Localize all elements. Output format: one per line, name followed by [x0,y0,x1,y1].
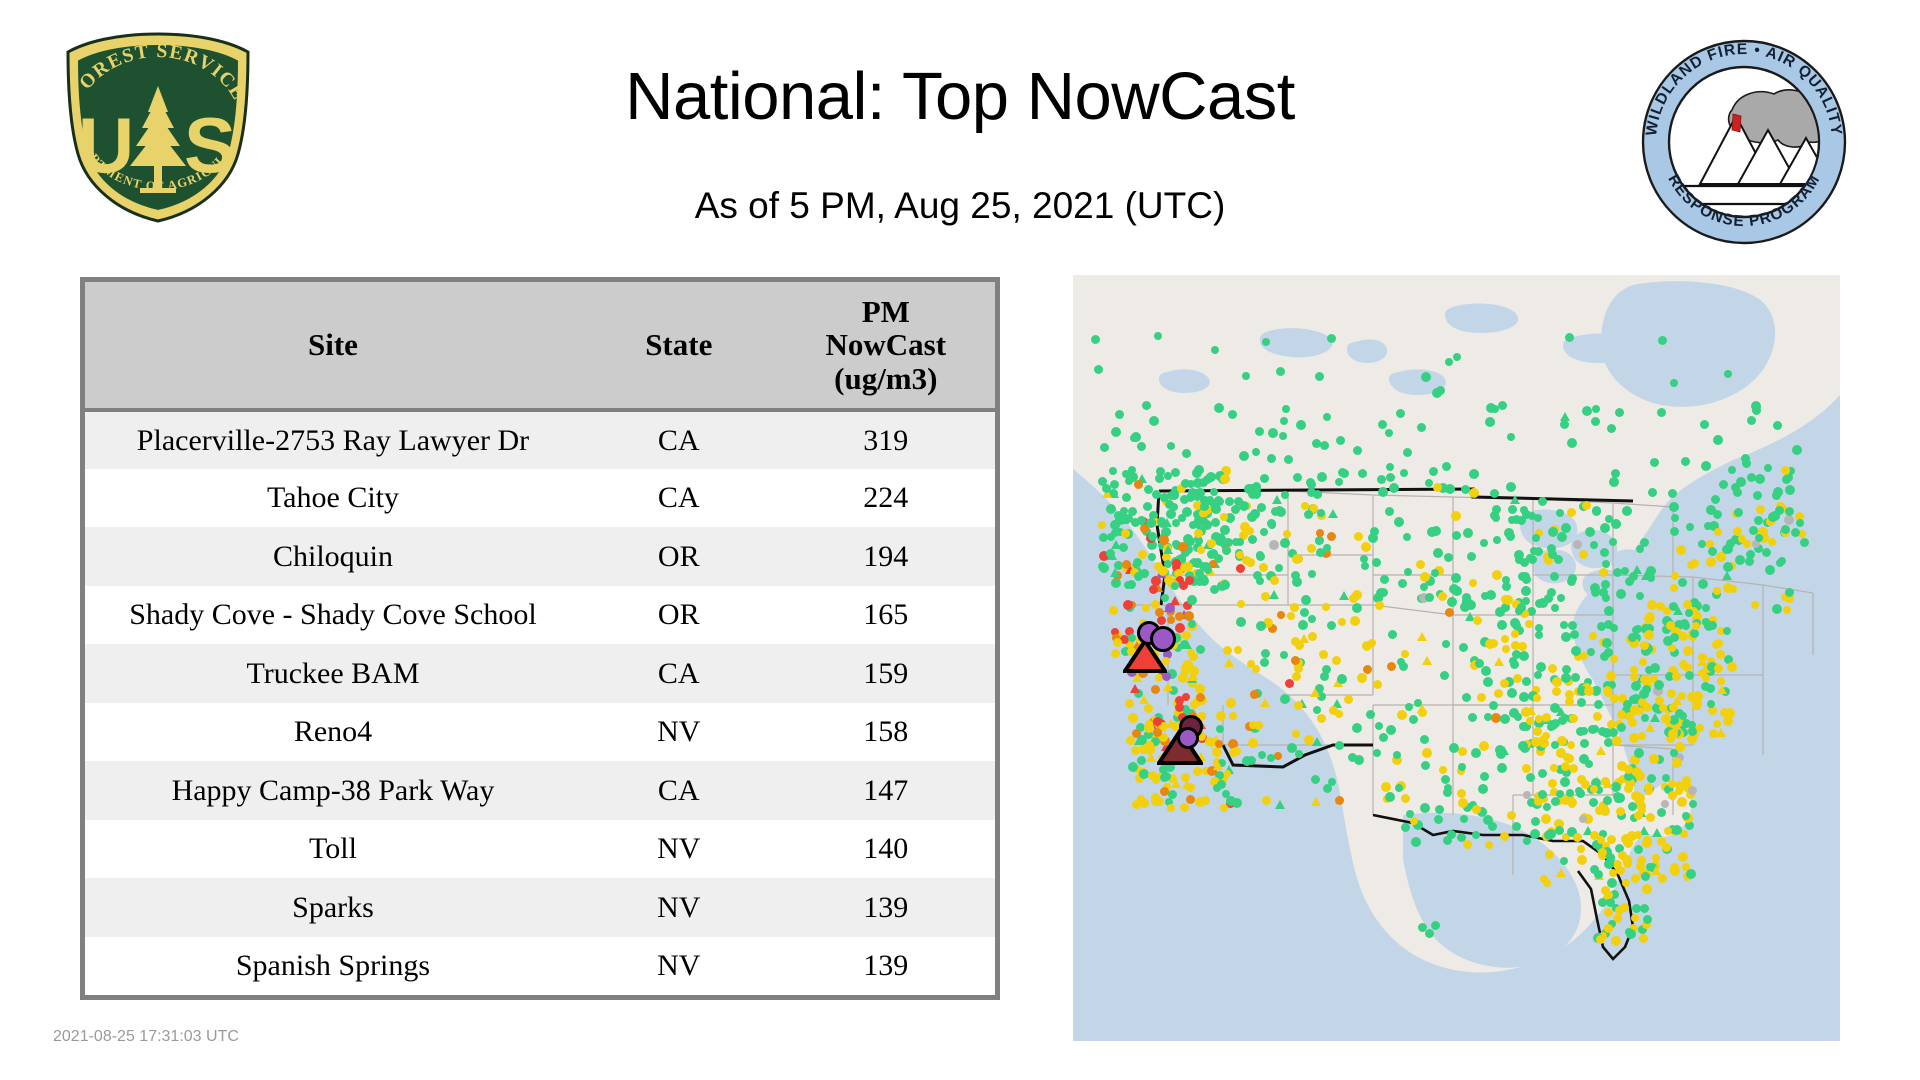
aqi-station-dot[interactable] [1260,658,1269,667]
aqi-station-dot[interactable] [1385,429,1393,437]
aqi-station-dot[interactable] [1269,540,1279,550]
aqi-station-dot[interactable] [1567,577,1576,586]
aqi-station-dot[interactable] [1323,413,1331,421]
aqi-station-dot[interactable] [1282,405,1290,413]
aqi-station-dot[interactable] [1560,777,1570,787]
aqi-station-dot[interactable] [1131,746,1140,755]
aqi-station-dot[interactable] [1196,693,1205,702]
aqi-station-dot[interactable] [1229,712,1237,720]
aqi-station-dot[interactable] [1111,427,1121,437]
aqi-station-dot[interactable] [1252,665,1260,673]
aqi-station-dot[interactable] [1467,552,1476,561]
aqi-station-dot[interactable] [1642,838,1652,848]
aqi-station-dot[interactable] [1189,652,1198,661]
aqi-station-dot[interactable] [1785,485,1795,495]
aqi-station-dot[interactable] [1533,727,1542,736]
aqi-station-dot[interactable] [1271,507,1280,516]
aqi-station-dot[interactable] [1683,600,1692,609]
aqi-station-dot[interactable] [1526,773,1535,782]
aqi-station-dot[interactable] [1714,528,1722,536]
aqi-station-dot[interactable] [1458,747,1467,756]
aqi-station-dot[interactable] [1256,577,1264,585]
aqi-station-dot[interactable] [1469,469,1479,479]
aqi-station-dot[interactable] [1521,586,1531,596]
aqi-station-dot[interactable] [1538,497,1547,506]
aqi-station-dot[interactable] [1313,706,1321,714]
aqi-station-dot[interactable] [1544,830,1554,840]
aqi-station-dot[interactable] [1493,536,1501,544]
aqi-station-dot[interactable] [1153,717,1162,726]
aqi-station-dot[interactable] [1636,592,1644,600]
aqi-station-dot[interactable] [1510,660,1519,669]
aqi-station-dot[interactable] [1651,866,1661,875]
aqi-station-dot[interactable] [1434,815,1443,824]
aqi-station-dot[interactable] [1617,710,1626,719]
aqi-station-dot[interactable] [1144,704,1153,713]
aqi-station-dot[interactable] [1621,567,1629,575]
aqi-station-dot[interactable] [1751,401,1761,411]
aqi-station-dot[interactable] [1677,797,1687,807]
aqi-station-dot[interactable] [1639,658,1647,666]
aqi-station-dot[interactable] [1262,338,1270,346]
aqi-station-dot[interactable] [1458,798,1468,808]
aqi-station-dot[interactable] [1293,473,1302,482]
aqi-station-dot[interactable] [1609,538,1617,546]
aqi-station-dot[interactable] [1483,815,1493,825]
aqi-station-dot[interactable] [1373,749,1381,757]
aqi-station-dot[interactable] [1580,727,1588,735]
aqi-station-dot[interactable] [1525,620,1533,628]
aqi-station-dot[interactable] [1211,346,1219,354]
aqi-station-dot[interactable] [1679,632,1688,641]
aqi-station-dot[interactable] [1281,491,1289,499]
aqi-station-dot[interactable] [1648,488,1657,497]
aqi-station-dot[interactable] [1417,423,1426,432]
aqi-station-dot[interactable] [1713,510,1722,519]
aqi-station-dot[interactable] [1180,495,1189,504]
aqi-station-dot[interactable] [1604,908,1613,917]
aqi-station-dot[interactable] [1335,741,1344,750]
aqi-station-dot[interactable] [1560,857,1568,865]
aqi-station-dot[interactable] [1387,662,1396,671]
aqi-station-dot[interactable] [1451,511,1461,521]
aqi-station-dot[interactable] [1159,535,1169,545]
aqi-station-dot[interactable] [1594,700,1603,709]
aqi-station-dot[interactable] [1236,564,1245,573]
aqi-station-dot[interactable] [1175,612,1184,621]
aqi-station-dot[interactable] [1439,766,1447,774]
aqi-station-dot[interactable] [1682,776,1691,785]
aqi-station-dot[interactable] [1500,679,1509,688]
aqi-station-dot[interactable] [1307,488,1316,497]
aqi-station-dot[interactable] [1192,468,1202,478]
aqi-station-dot[interactable] [1577,845,1585,853]
aqi-station-dot[interactable] [1498,401,1507,410]
aqi-station-dot[interactable] [1644,630,1654,640]
aqi-station-dot[interactable] [1541,814,1551,824]
aqi-station-dot[interactable] [1594,870,1603,879]
aqi-station-dot[interactable] [1389,483,1399,493]
aqi-station-dot[interactable] [1417,632,1427,641]
aqi-station-dot[interactable] [1099,533,1108,542]
aqi-station-dot[interactable] [1252,448,1260,456]
aqi-station-dot[interactable] [1624,784,1633,793]
aqi-station-dot[interactable] [1753,491,1762,500]
aqi-station-dot[interactable] [1386,725,1396,735]
aqi-station-dot[interactable] [1690,559,1699,568]
aqi-station-dot[interactable] [1155,608,1164,617]
aqi-station-dot[interactable] [1727,662,1737,672]
aqi-station-dot[interactable] [1611,936,1621,946]
aqi-station-dot[interactable] [1144,485,1153,494]
aqi-station-dot[interactable] [1195,797,1205,807]
aqi-station-dot[interactable] [1291,571,1300,580]
aqi-station-dot[interactable] [1791,528,1800,537]
aqi-station-dot[interactable] [1284,455,1293,464]
aqi-station-dot[interactable] [1673,606,1683,615]
aqi-station-dot[interactable] [1635,771,1645,781]
aqi-station-dot[interactable] [1457,789,1466,798]
aqi-station-dot[interactable] [1683,646,1693,656]
aqi-station-dot[interactable] [1523,791,1531,799]
aqi-station-dot[interactable] [1506,482,1516,492]
aqi-station-dot[interactable] [1157,517,1166,526]
aqi-station-dot[interactable] [1500,832,1509,841]
aqi-station-dot[interactable] [1523,837,1531,845]
aqi-station-dot[interactable] [1269,590,1279,599]
aqi-station-dot[interactable] [1602,594,1610,602]
aqi-station-dot[interactable] [1607,424,1616,433]
aqi-station-dot[interactable] [1196,645,1205,654]
aqi-station-dot[interactable] [1220,804,1228,812]
aqi-station-dot[interactable] [1689,800,1697,808]
aqi-station-dot[interactable] [1640,538,1649,547]
aqi-station-dot[interactable] [1610,694,1619,703]
aqi-station-dot[interactable] [1400,469,1408,477]
aqi-station-dot[interactable] [1756,505,1765,514]
aqi-station-dot[interactable] [1449,743,1459,753]
aqi-station-dot[interactable] [1603,796,1612,805]
aqi-station-dot[interactable] [1180,803,1189,812]
aqi-station-dot[interactable] [1535,631,1543,639]
aqi-station-dot[interactable] [1327,334,1336,343]
aqi-station-dot[interactable] [1696,724,1704,732]
aqi-station-dot[interactable] [1762,548,1771,557]
aqi-station-dot[interactable] [1438,592,1447,601]
aqi-station-dot[interactable] [1723,562,1733,572]
aqi-station-dot[interactable] [1220,580,1230,590]
aqi-station-dot[interactable] [1148,553,1156,561]
aqi-station-dot[interactable] [1220,525,1230,535]
aqi-station-dot[interactable] [1203,475,1212,484]
aqi-station-dot[interactable] [1143,502,1152,511]
aqi-station-dot[interactable] [1155,474,1164,483]
aqi-station-dot[interactable] [1568,621,1577,630]
aqi-station-dot[interactable] [1661,800,1669,808]
aqi-station-dot[interactable] [1512,822,1521,831]
aqi-station-dot[interactable] [1569,764,1578,773]
aqi-station-dot[interactable] [1211,504,1221,514]
aqi-station-dot[interactable] [1668,780,1676,788]
aqi-station-dot[interactable] [1497,620,1507,630]
aqi-station-dot[interactable] [1352,603,1362,613]
aqi-station-dot[interactable] [1634,831,1642,839]
aqi-station-dot[interactable] [1442,640,1450,648]
aqi-station-dot[interactable] [1658,336,1667,345]
aqi-station-dot[interactable] [1628,802,1637,811]
aqi-station-dot[interactable] [1670,584,1678,592]
aqi-station-dot[interactable] [1506,532,1515,541]
aqi-station-dot[interactable] [1160,773,1169,782]
aqi-station-dot[interactable] [1514,550,1524,560]
aqi-station-dot[interactable] [1507,688,1517,698]
aqi-station-dot[interactable] [1561,714,1569,722]
aqi-station-dot[interactable] [1701,461,1711,471]
aqi-station-dot[interactable] [1277,611,1285,619]
aqi-station-dot[interactable] [1613,568,1622,577]
aqi-station-dot[interactable] [1531,817,1540,826]
aqi-station-dot[interactable] [1781,525,1790,534]
aqi-station-dot[interactable] [1301,595,1311,605]
aqi-station-dot[interactable] [1567,508,1576,517]
aqi-station-dot[interactable] [1420,583,1428,591]
aqi-station-dot[interactable] [1172,559,1181,568]
aqi-station-dot[interactable] [1285,679,1294,688]
aqi-station-dot[interactable] [1401,823,1410,832]
aqi-station-dot[interactable] [1522,764,1531,773]
aqi-station-dot[interactable] [1287,612,1295,620]
aqi-station-dot[interactable] [1417,704,1427,713]
aqi-station-dot[interactable] [1688,786,1697,795]
aqi-station-dot[interactable] [1606,671,1616,681]
aqi-station-dot[interactable] [1702,604,1710,612]
aqi-station-dot[interactable] [1411,837,1421,847]
aqi-station-dot[interactable] [1784,515,1794,525]
aqi-station-dot[interactable] [1344,695,1353,704]
aqi-station-dot[interactable] [1340,469,1349,478]
aqi-station-dot[interactable] [1522,677,1531,686]
aqi-station-dot[interactable] [1679,712,1687,720]
aqi-station-dot[interactable] [1733,488,1742,497]
aqi-station-dot[interactable] [1702,618,1710,626]
aqi-station-dot[interactable] [1409,715,1418,724]
aqi-station-dot[interactable] [1600,652,1609,661]
aqi-station-dot[interactable] [1442,462,1451,471]
aqi-station-dot[interactable] [1565,754,1574,763]
aqi-station-dot[interactable] [1128,713,1138,723]
aqi-station-dot[interactable] [1134,572,1143,581]
aqi-station-dot[interactable] [1510,495,1520,504]
aqi-station-dot[interactable] [1197,546,1205,554]
aqi-station-dot[interactable] [1385,507,1394,516]
aqi-station-dot[interactable] [1585,527,1595,537]
aqi-station-dot[interactable] [1728,466,1736,474]
aqi-station-dot[interactable] [1500,714,1510,724]
aqi-station-dot[interactable] [1764,464,1772,472]
aqi-station-dot[interactable] [1596,746,1606,755]
aqi-station-dot[interactable] [1224,658,1234,667]
aqi-station-dot[interactable] [1681,457,1690,466]
aqi-station-dot[interactable] [1353,446,1362,455]
aqi-station-dot[interactable] [1292,730,1300,738]
aqi-station-dot[interactable] [1604,924,1613,933]
aqi-station-dot[interactable] [1142,604,1150,612]
aqi-station-dot[interactable] [1155,797,1164,806]
aqi-station-dot[interactable] [1702,674,1710,682]
aqi-station-dot[interactable] [1308,615,1316,623]
aqi-station-dot[interactable] [1645,787,1653,795]
aqi-station-dot[interactable] [1503,595,1513,605]
aqi-station-dot[interactable] [1231,505,1240,514]
aqi-station-dot[interactable] [1645,723,1655,732]
aqi-station-dot[interactable] [1123,600,1133,610]
aqi-station-dot[interactable] [1398,579,1407,588]
aqi-station-dot[interactable] [1187,672,1197,681]
aqi-station-dot[interactable] [1125,699,1134,708]
aqi-station-dot[interactable] [1433,548,1443,558]
aqi-station-dot[interactable] [1328,509,1338,518]
aqi-station-dot[interactable] [1570,630,1579,639]
aqi-station-dot[interactable] [1700,420,1709,429]
aqi-station-dot[interactable] [1722,571,1732,580]
aqi-station-dot[interactable] [1262,796,1271,805]
aqi-station-dot[interactable] [1420,803,1430,813]
aqi-station-dot[interactable] [1638,732,1646,740]
aqi-station-dot[interactable] [1361,542,1371,552]
aqi-station-dot[interactable] [1672,825,1682,835]
aqi-station-dot[interactable] [1363,665,1372,674]
aqi-station-dot[interactable] [1441,775,1450,784]
aqi-station-dot[interactable] [1149,585,1158,594]
aqi-station-dot[interactable] [1139,798,1149,808]
aqi-station-dot[interactable] [1552,677,1562,687]
top-site-circle-south-b[interactable] [1177,727,1199,749]
aqi-station-dot[interactable] [1137,442,1146,451]
aqi-station-dot[interactable] [1652,854,1660,862]
aqi-station-dot[interactable] [1573,833,1582,842]
aqi-station-dot[interactable] [1642,685,1651,694]
aqi-station-dot[interactable] [1554,555,1563,564]
aqi-station-dot[interactable] [1397,710,1407,720]
aqi-station-dot[interactable] [1685,609,1693,617]
aqi-station-dot[interactable] [1592,405,1600,413]
aqi-station-dot[interactable] [1335,478,1343,486]
aqi-station-dot[interactable] [1229,748,1238,757]
aqi-station-dot[interactable] [1616,866,1625,875]
aqi-station-dot[interactable] [1396,409,1405,418]
aqi-station-dot[interactable] [1214,403,1224,413]
aqi-station-dot[interactable] [1138,550,1147,559]
aqi-station-dot[interactable] [1685,671,1694,680]
aqi-station-dot[interactable] [1354,532,1363,541]
aqi-station-dot[interactable] [1316,548,1325,557]
aqi-station-dot[interactable] [1670,379,1678,387]
aqi-station-dot[interactable] [1489,701,1498,710]
aqi-station-dot[interactable] [1551,604,1559,612]
aqi-station-dot[interactable] [1714,664,1723,673]
aqi-station-dot[interactable] [1589,632,1597,640]
aqi-station-dot[interactable] [1352,590,1362,600]
aqi-station-dot[interactable] [1148,532,1157,541]
aqi-station-dot[interactable] [1682,812,1690,820]
aqi-station-dot[interactable] [1473,616,1482,625]
aqi-station-dot[interactable] [1532,534,1540,542]
aqi-station-dot[interactable] [1631,874,1640,883]
aqi-station-dot[interactable] [1711,495,1720,504]
aqi-station-dot[interactable] [1481,666,1491,676]
aqi-station-dot[interactable] [1686,869,1696,879]
aqi-station-dot[interactable] [1137,756,1146,765]
aqi-station-dot[interactable] [1459,643,1468,652]
aqi-station-dot[interactable] [1170,503,1178,511]
aqi-station-dot[interactable] [1216,725,1224,733]
aqi-station-dot[interactable] [1368,533,1378,543]
aqi-station-dot[interactable] [1420,735,1429,744]
aqi-station-dot[interactable] [1268,428,1278,438]
aqi-station-dot[interactable] [1485,841,1493,849]
aqi-station-dot[interactable] [1403,533,1411,541]
aqi-station-dot[interactable] [1295,750,1303,758]
aqi-station-dot[interactable] [1260,474,1269,483]
aqi-station-dot[interactable] [1151,685,1160,694]
aqi-station-dot[interactable] [1615,793,1625,803]
aqi-station-dot[interactable] [1280,417,1288,425]
aqi-station-dot[interactable] [1280,538,1290,548]
aqi-station-dot[interactable] [1427,527,1437,537]
aqi-station-dot[interactable] [1481,592,1489,600]
aqi-station-dot[interactable] [1535,624,1543,632]
aqi-station-dot[interactable] [1312,737,1322,746]
aqi-station-dot[interactable] [1379,733,1388,742]
aqi-station-dot[interactable] [1626,929,1636,939]
aqi-station-dot[interactable] [1460,602,1470,612]
aqi-station-dot[interactable] [1109,606,1118,615]
aqi-station-dot[interactable] [1327,621,1336,630]
aqi-station-dot[interactable] [1548,779,1557,788]
aqi-station-dot[interactable] [1385,792,1395,802]
aqi-station-dot[interactable] [1565,697,1574,706]
aqi-station-dot[interactable] [1709,729,1718,738]
aqi-station-dot[interactable] [1670,527,1679,536]
aqi-station-dot[interactable] [1671,514,1679,522]
aqi-station-dot[interactable] [1600,806,1610,816]
aqi-station-dot[interactable] [1514,713,1522,721]
aqi-station-dot[interactable] [1222,546,1231,555]
aqi-station-dot[interactable] [1521,572,1530,581]
aqi-station-dot[interactable] [1768,512,1778,522]
aqi-station-dot[interactable] [1676,545,1686,555]
aqi-station-dot[interactable] [1444,553,1453,562]
aqi-station-dot[interactable] [1571,673,1580,682]
aqi-station-dot[interactable] [1322,603,1330,611]
aqi-station-dot[interactable] [1091,335,1100,344]
aqi-station-dot[interactable] [1352,723,1362,733]
aqi-station-dot[interactable] [1339,591,1349,600]
aqi-station-dot[interactable] [1522,597,1530,605]
aqi-station-dot[interactable] [1223,770,1231,778]
aqi-station-dot[interactable] [1421,761,1430,770]
aqi-station-dot[interactable] [1724,370,1732,378]
aqi-station-dot[interactable] [1220,513,1228,521]
aqi-station-dot[interactable] [1445,358,1453,366]
aqi-station-dot[interactable] [1616,589,1626,599]
aqi-station-dot[interactable] [1497,763,1507,773]
aqi-station-dot[interactable] [1395,784,1403,792]
aqi-station-dot[interactable] [1350,616,1360,626]
aqi-station-dot[interactable] [1292,672,1301,681]
aqi-station-dot[interactable] [1567,741,1575,749]
aqi-station-dot[interactable] [1256,552,1265,561]
